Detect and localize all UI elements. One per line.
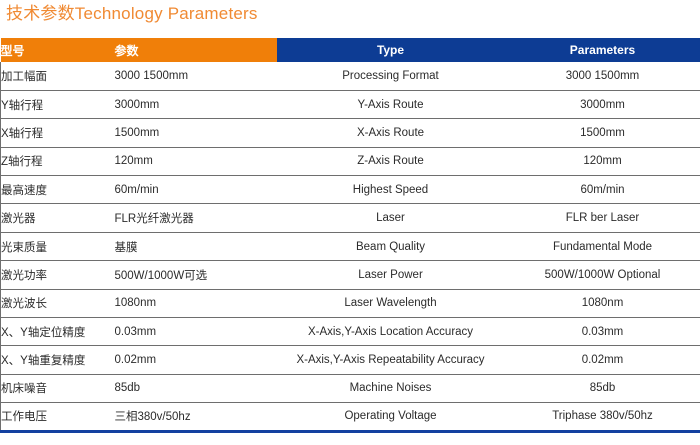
row-cell-parameters: 3000 1500mm bbox=[505, 62, 700, 90]
row-cell-parameters: 3000mm bbox=[505, 90, 700, 118]
row-cell-type: Z-Axis Route bbox=[277, 147, 505, 175]
table-row: 加工幅面3000 1500mmProcessing Format3000 150… bbox=[1, 62, 700, 90]
row-cell-param: 三相380v/50hz bbox=[115, 403, 277, 431]
table-row: X、Y轴重复精度0.02mmX-Axis,Y-Axis Repeatabilit… bbox=[1, 346, 700, 374]
row-cell-type: X-Axis,Y-Axis Repeatability Accuracy bbox=[277, 346, 505, 374]
row-cell-param: FLR光纤激光器 bbox=[115, 204, 277, 232]
row-cell-type: Highest Speed bbox=[277, 176, 505, 204]
row-cell-type: X-Axis,Y-Axis Location Accuracy bbox=[277, 318, 505, 346]
row-cell-type: X-Axis Route bbox=[277, 119, 505, 147]
row-cell-parameters: 0.03mm bbox=[505, 318, 700, 346]
row-cell-parameters: 1500mm bbox=[505, 119, 700, 147]
row-cell-type: Laser Wavelength bbox=[277, 289, 505, 317]
table-row: 光束质量基膜Beam QualityFundamental Mode bbox=[1, 232, 700, 260]
row-cell-param: 1500mm bbox=[115, 119, 277, 147]
table-row: 最高速度60m/minHighest Speed60m/min bbox=[1, 176, 700, 204]
column-header-parameters: Parameters bbox=[505, 38, 700, 62]
row-cell-parameters: 500W/1000W Optional bbox=[505, 261, 700, 289]
row-cell-type: Operating Voltage bbox=[277, 403, 505, 431]
row-cell-param: 60m/min bbox=[115, 176, 277, 204]
row-cell-model: 最高速度 bbox=[1, 176, 115, 204]
row-cell-param: 3000mm bbox=[115, 90, 277, 118]
table-body: 加工幅面3000 1500mmProcessing Format3000 150… bbox=[1, 62, 700, 431]
row-cell-type: Beam Quality bbox=[277, 232, 505, 260]
row-cell-model: Z轴行程 bbox=[1, 147, 115, 175]
row-cell-model: 光束质量 bbox=[1, 232, 115, 260]
row-cell-param: 0.02mm bbox=[115, 346, 277, 374]
row-cell-parameters: FLR ber Laser bbox=[505, 204, 700, 232]
table-row: 工作电压三相380v/50hzOperating VoltageTriphase… bbox=[1, 403, 700, 431]
row-cell-parameters: 0.02mm bbox=[505, 346, 700, 374]
table-row: X、Y轴定位精度0.03mmX-Axis,Y-Axis Location Acc… bbox=[1, 318, 700, 346]
row-cell-param: 3000 1500mm bbox=[115, 62, 277, 90]
column-header-param: 参数 bbox=[115, 38, 277, 62]
row-cell-param: 120mm bbox=[115, 147, 277, 175]
row-cell-parameters: Triphase 380v/50hz bbox=[505, 403, 700, 431]
row-cell-type: Y-Axis Route bbox=[277, 90, 505, 118]
row-cell-parameters: 85db bbox=[505, 374, 700, 402]
row-cell-model: 激光波长 bbox=[1, 289, 115, 317]
row-cell-model: 激光功率 bbox=[1, 261, 115, 289]
row-cell-model: 工作电压 bbox=[1, 403, 115, 431]
row-cell-model: X、Y轴定位精度 bbox=[1, 318, 115, 346]
table-row: Y轴行程3000mmY-Axis Route3000mm bbox=[1, 90, 700, 118]
row-cell-param: 1080nm bbox=[115, 289, 277, 317]
row-cell-model: 机床噪音 bbox=[1, 374, 115, 402]
row-cell-param: 85db bbox=[115, 374, 277, 402]
row-cell-type: Laser bbox=[277, 204, 505, 232]
row-cell-model: X轴行程 bbox=[1, 119, 115, 147]
technology-parameters-table: 型号 参数 Type Parameters 加工幅面3000 1500mmPro… bbox=[0, 38, 700, 433]
page-title: 技术参数Technology Parameters bbox=[6, 3, 258, 25]
table-row: 激光波长1080nmLaser Wavelength1080nm bbox=[1, 289, 700, 317]
row-cell-param: 基膜 bbox=[115, 232, 277, 260]
row-cell-type: Laser Power bbox=[277, 261, 505, 289]
row-cell-model: 激光器 bbox=[1, 204, 115, 232]
row-cell-parameters: 120mm bbox=[505, 147, 700, 175]
row-cell-type: Machine Noises bbox=[277, 374, 505, 402]
row-cell-param: 500W/1000W可选 bbox=[115, 261, 277, 289]
column-header-model: 型号 bbox=[1, 38, 115, 62]
row-cell-param: 0.03mm bbox=[115, 318, 277, 346]
row-cell-model: 加工幅面 bbox=[1, 62, 115, 90]
column-header-type: Type bbox=[277, 38, 505, 62]
table-row: 机床噪音85dbMachine Noises85db bbox=[1, 374, 700, 402]
table-row: Z轴行程120mmZ-Axis Route120mm bbox=[1, 147, 700, 175]
row-cell-parameters: 1080nm bbox=[505, 289, 700, 317]
row-cell-model: Y轴行程 bbox=[1, 90, 115, 118]
row-cell-parameters: Fundamental Mode bbox=[505, 232, 700, 260]
table-row: 激光功率500W/1000W可选Laser Power500W/1000W Op… bbox=[1, 261, 700, 289]
table-row: 激光器FLR光纤激光器LaserFLR ber Laser bbox=[1, 204, 700, 232]
row-cell-parameters: 60m/min bbox=[505, 176, 700, 204]
row-cell-model: X、Y轴重复精度 bbox=[1, 346, 115, 374]
table-header: 型号 参数 Type Parameters bbox=[1, 38, 700, 62]
table-row: X轴行程1500mmX-Axis Route1500mm bbox=[1, 119, 700, 147]
row-cell-type: Processing Format bbox=[277, 62, 505, 90]
table-header-row: 型号 参数 Type Parameters bbox=[1, 38, 700, 62]
